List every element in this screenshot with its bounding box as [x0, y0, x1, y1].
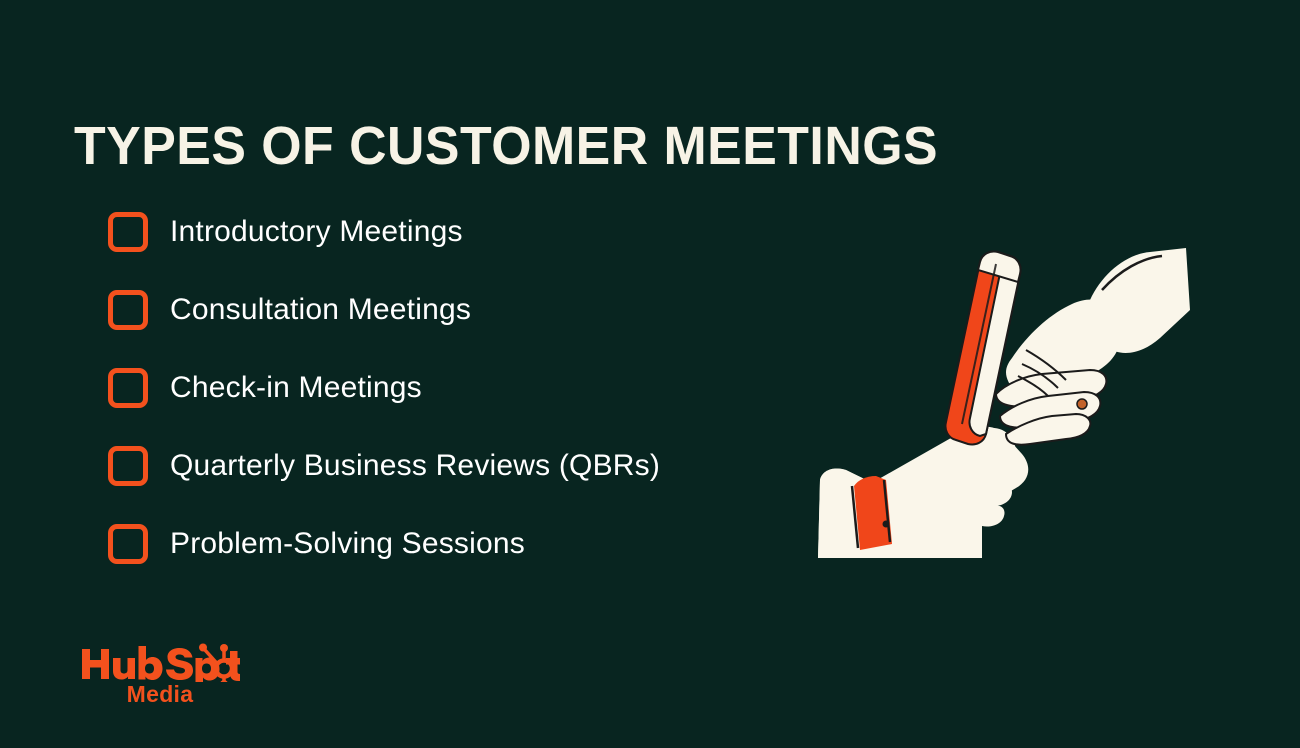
list-item-label: Introductory Meetings — [170, 215, 463, 249]
checkbox-empty-icon[interactable] — [108, 368, 148, 408]
list-item-label: Quarterly Business Reviews (QBRs) — [170, 449, 660, 483]
list-item[interactable]: Problem-Solving Sessions — [108, 520, 768, 568]
hubspot-wordmark — [80, 636, 240, 682]
checklist: Introductory Meetings Consultation Meeti… — [108, 208, 768, 568]
checkbox-empty-icon[interactable] — [108, 290, 148, 330]
list-item[interactable]: Quarterly Business Reviews (QBRs) — [108, 442, 768, 490]
checkbox-empty-icon[interactable] — [108, 446, 148, 486]
checkbox-empty-icon[interactable] — [108, 524, 148, 564]
list-item-label: Problem-Solving Sessions — [170, 527, 525, 561]
checkbox-empty-icon[interactable] — [108, 212, 148, 252]
hubspot-media-logo[interactable]: Media — [80, 636, 250, 712]
page-title: Types of Customer Meetings — [74, 118, 938, 174]
list-item-label: Check-in Meetings — [170, 371, 422, 405]
poster-canvas: Types of Customer Meetings Introductory … — [0, 0, 1300, 748]
list-item-label: Consultation Meetings — [170, 293, 471, 327]
logo-sublabel: Media — [80, 681, 240, 707]
list-item[interactable]: Introductory Meetings — [108, 208, 768, 256]
list-item[interactable]: Consultation Meetings — [108, 286, 768, 334]
hands-passing-relay-baton-illustration — [790, 218, 1190, 578]
list-item[interactable]: Check-in Meetings — [108, 364, 768, 412]
